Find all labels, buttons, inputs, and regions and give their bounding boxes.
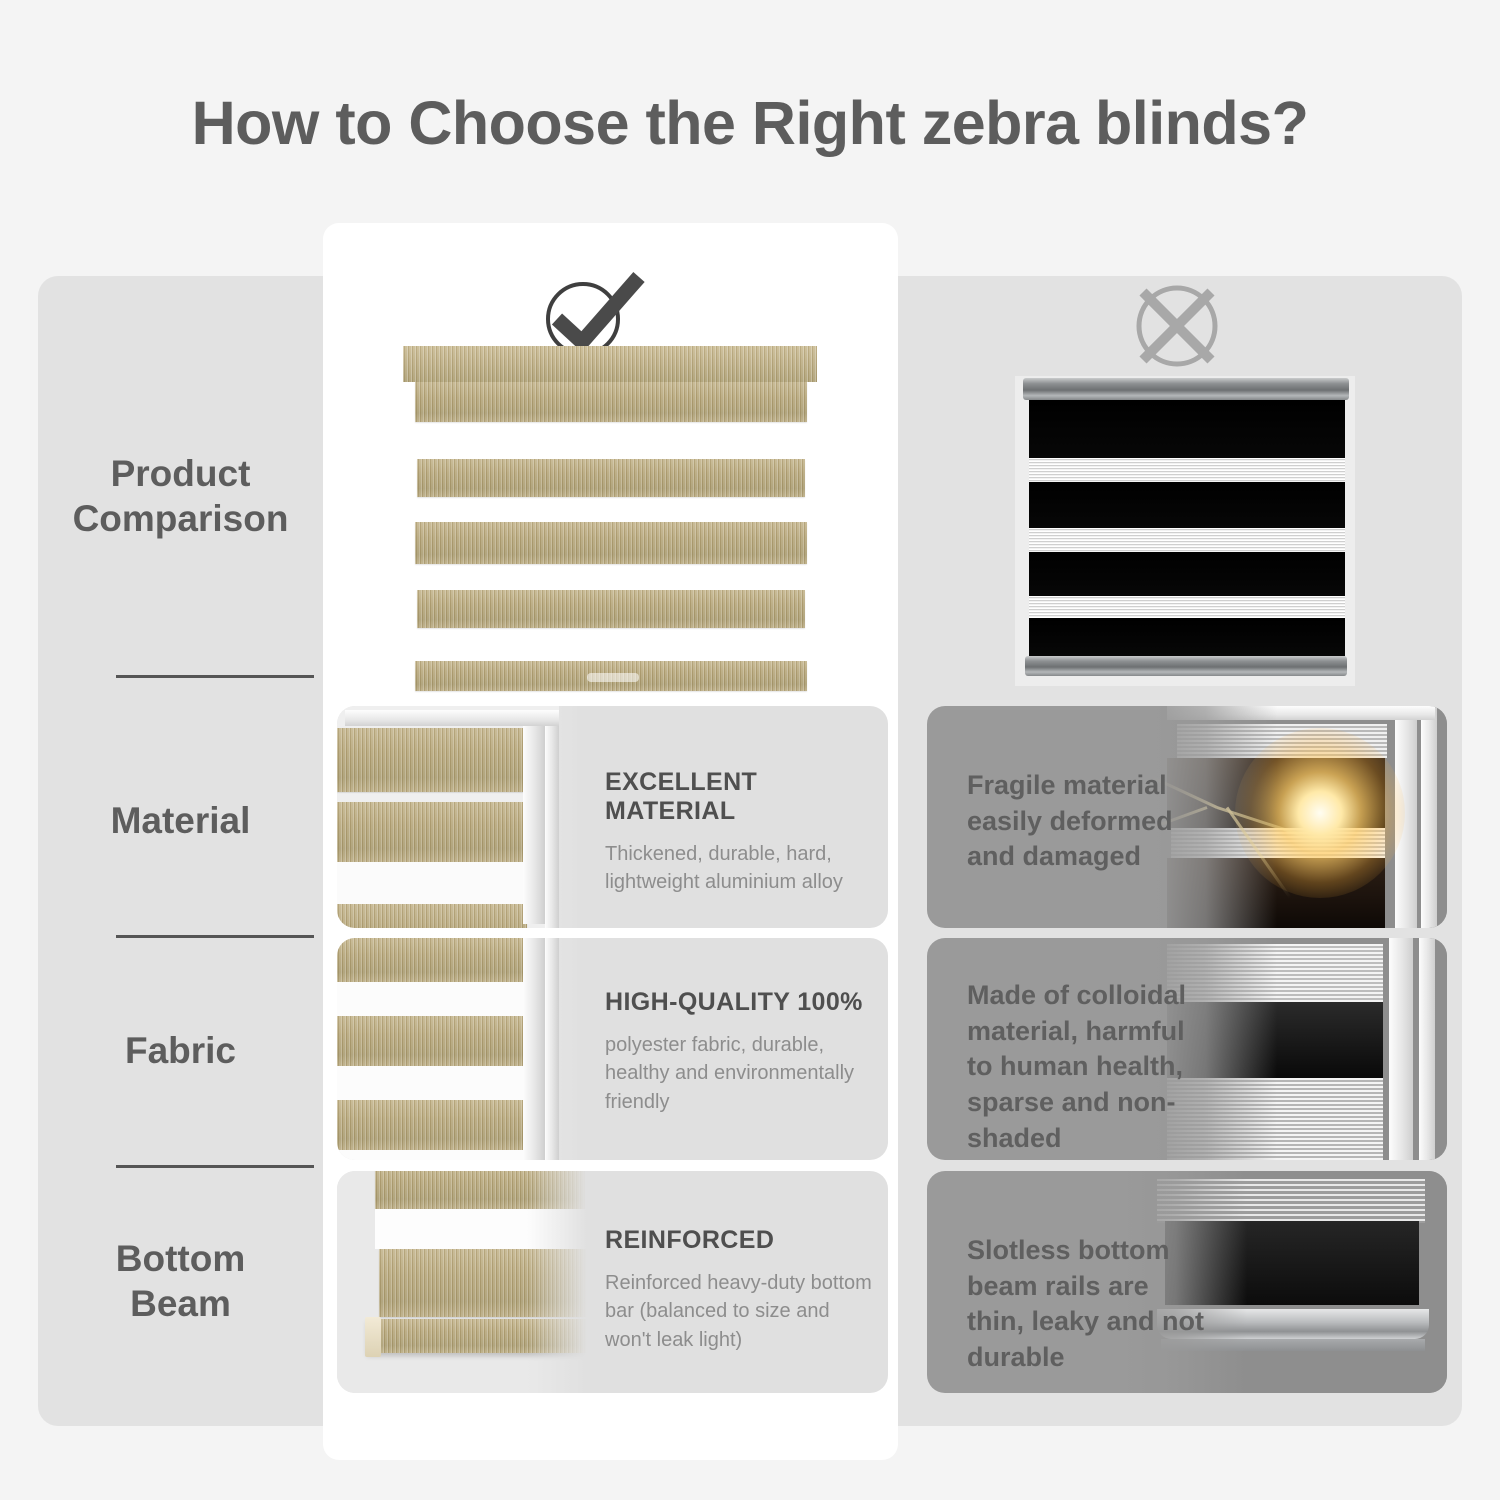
blind-sheer-band [1029, 458, 1345, 482]
row-label-text: Material [111, 798, 251, 843]
row-label-line-2: Comparison [73, 496, 289, 541]
bad-product-image [1015, 376, 1355, 686]
row-label-line-1: Bottom [116, 1236, 245, 1281]
row-label-text: Fabric [125, 1028, 236, 1073]
blind-headrail [403, 346, 817, 382]
row-label-line-1: Product [111, 451, 251, 496]
bad-card-fabric: Made of colloidal material, harmful to h… [927, 938, 1447, 1160]
feature-image-material [337, 706, 577, 928]
blind-bottom-bar-handle [587, 673, 639, 682]
feature-image-bottom-beam [337, 1171, 587, 1393]
infographic-page: How to Choose the Right zebra blinds? Pr… [0, 0, 1500, 1500]
row-label-fabric: Fabric [38, 1006, 323, 1096]
row-label-column: Product Comparison Material Fabric Botto… [38, 276, 323, 1426]
row-divider-3 [116, 1165, 314, 1168]
feature-image-fabric [337, 938, 577, 1160]
feature-body: Thickened, durable, hard, lightweight al… [605, 840, 867, 897]
good-product-image [395, 346, 825, 696]
blind-slat [415, 522, 807, 564]
feature-card-fabric: HIGH-QUALITY 100% polyester fabric, dura… [337, 938, 888, 1160]
row-label-bottom-beam: Bottom Beam [38, 1211, 323, 1351]
bad-text-bottom-beam: Slotless bottom beam rails are thin, lea… [967, 1233, 1207, 1376]
feature-body: polyester fabric, durable, healthy and e… [605, 1031, 873, 1116]
feature-text-material: EXCELLENT MATERIAL Thickened, durable, h… [605, 768, 867, 897]
feature-text-fabric: HIGH-QUALITY 100% polyester fabric, dura… [605, 988, 873, 1116]
row-label-product-comparison: Product Comparison [38, 426, 323, 566]
good-product-card: EXCELLENT MATERIAL Thickened, durable, h… [323, 223, 898, 1460]
feature-title: REINFORCED [605, 1226, 875, 1255]
blind-opaque-band [1029, 552, 1345, 596]
feature-text-bottom-beam: REINFORCED Reinforced heavy-duty bottom … [605, 1226, 875, 1354]
feature-body: Reinforced heavy-duty bottom bar (balanc… [605, 1269, 875, 1354]
blind-opaque-band [1029, 400, 1345, 458]
bad-card-material: Fragile material easily deformed and dam… [927, 706, 1447, 928]
blind-opaque-band [1029, 482, 1345, 528]
feature-title: EXCELLENT MATERIAL [605, 768, 867, 826]
bad-product-column: Fragile material easily deformed and dam… [905, 276, 1462, 1426]
cross-circle-icon [1117, 271, 1237, 381]
feature-title: HIGH-QUALITY 100% [605, 988, 873, 1017]
row-divider-1 [116, 675, 314, 678]
blind-headrail [1023, 378, 1349, 400]
feature-card-material: EXCELLENT MATERIAL Thickened, durable, h… [337, 706, 888, 928]
bad-text-material: Fragile material easily deformed and dam… [967, 768, 1197, 875]
blind-slat [415, 382, 807, 422]
bad-text-fabric: Made of colloidal material, harmful to h… [967, 978, 1215, 1156]
blind-sheer-band [1029, 528, 1345, 552]
bottom-bar-end-cap [365, 1317, 381, 1357]
blind-opaque-band [1029, 618, 1345, 656]
feature-card-bottom-beam: REINFORCED Reinforced heavy-duty bottom … [337, 1171, 888, 1393]
row-label-line-2: Beam [130, 1281, 231, 1326]
blind-bottom-rail [1025, 656, 1347, 676]
row-divider-2 [116, 935, 314, 938]
page-title: How to Choose the Right zebra blinds? [0, 88, 1500, 158]
blind-slat [417, 459, 805, 497]
blind-slat [417, 590, 805, 628]
blind-sheer-band [1029, 596, 1345, 618]
bad-card-bottom-beam: Slotless bottom beam rails are thin, lea… [927, 1171, 1447, 1393]
row-label-material: Material [38, 776, 323, 866]
